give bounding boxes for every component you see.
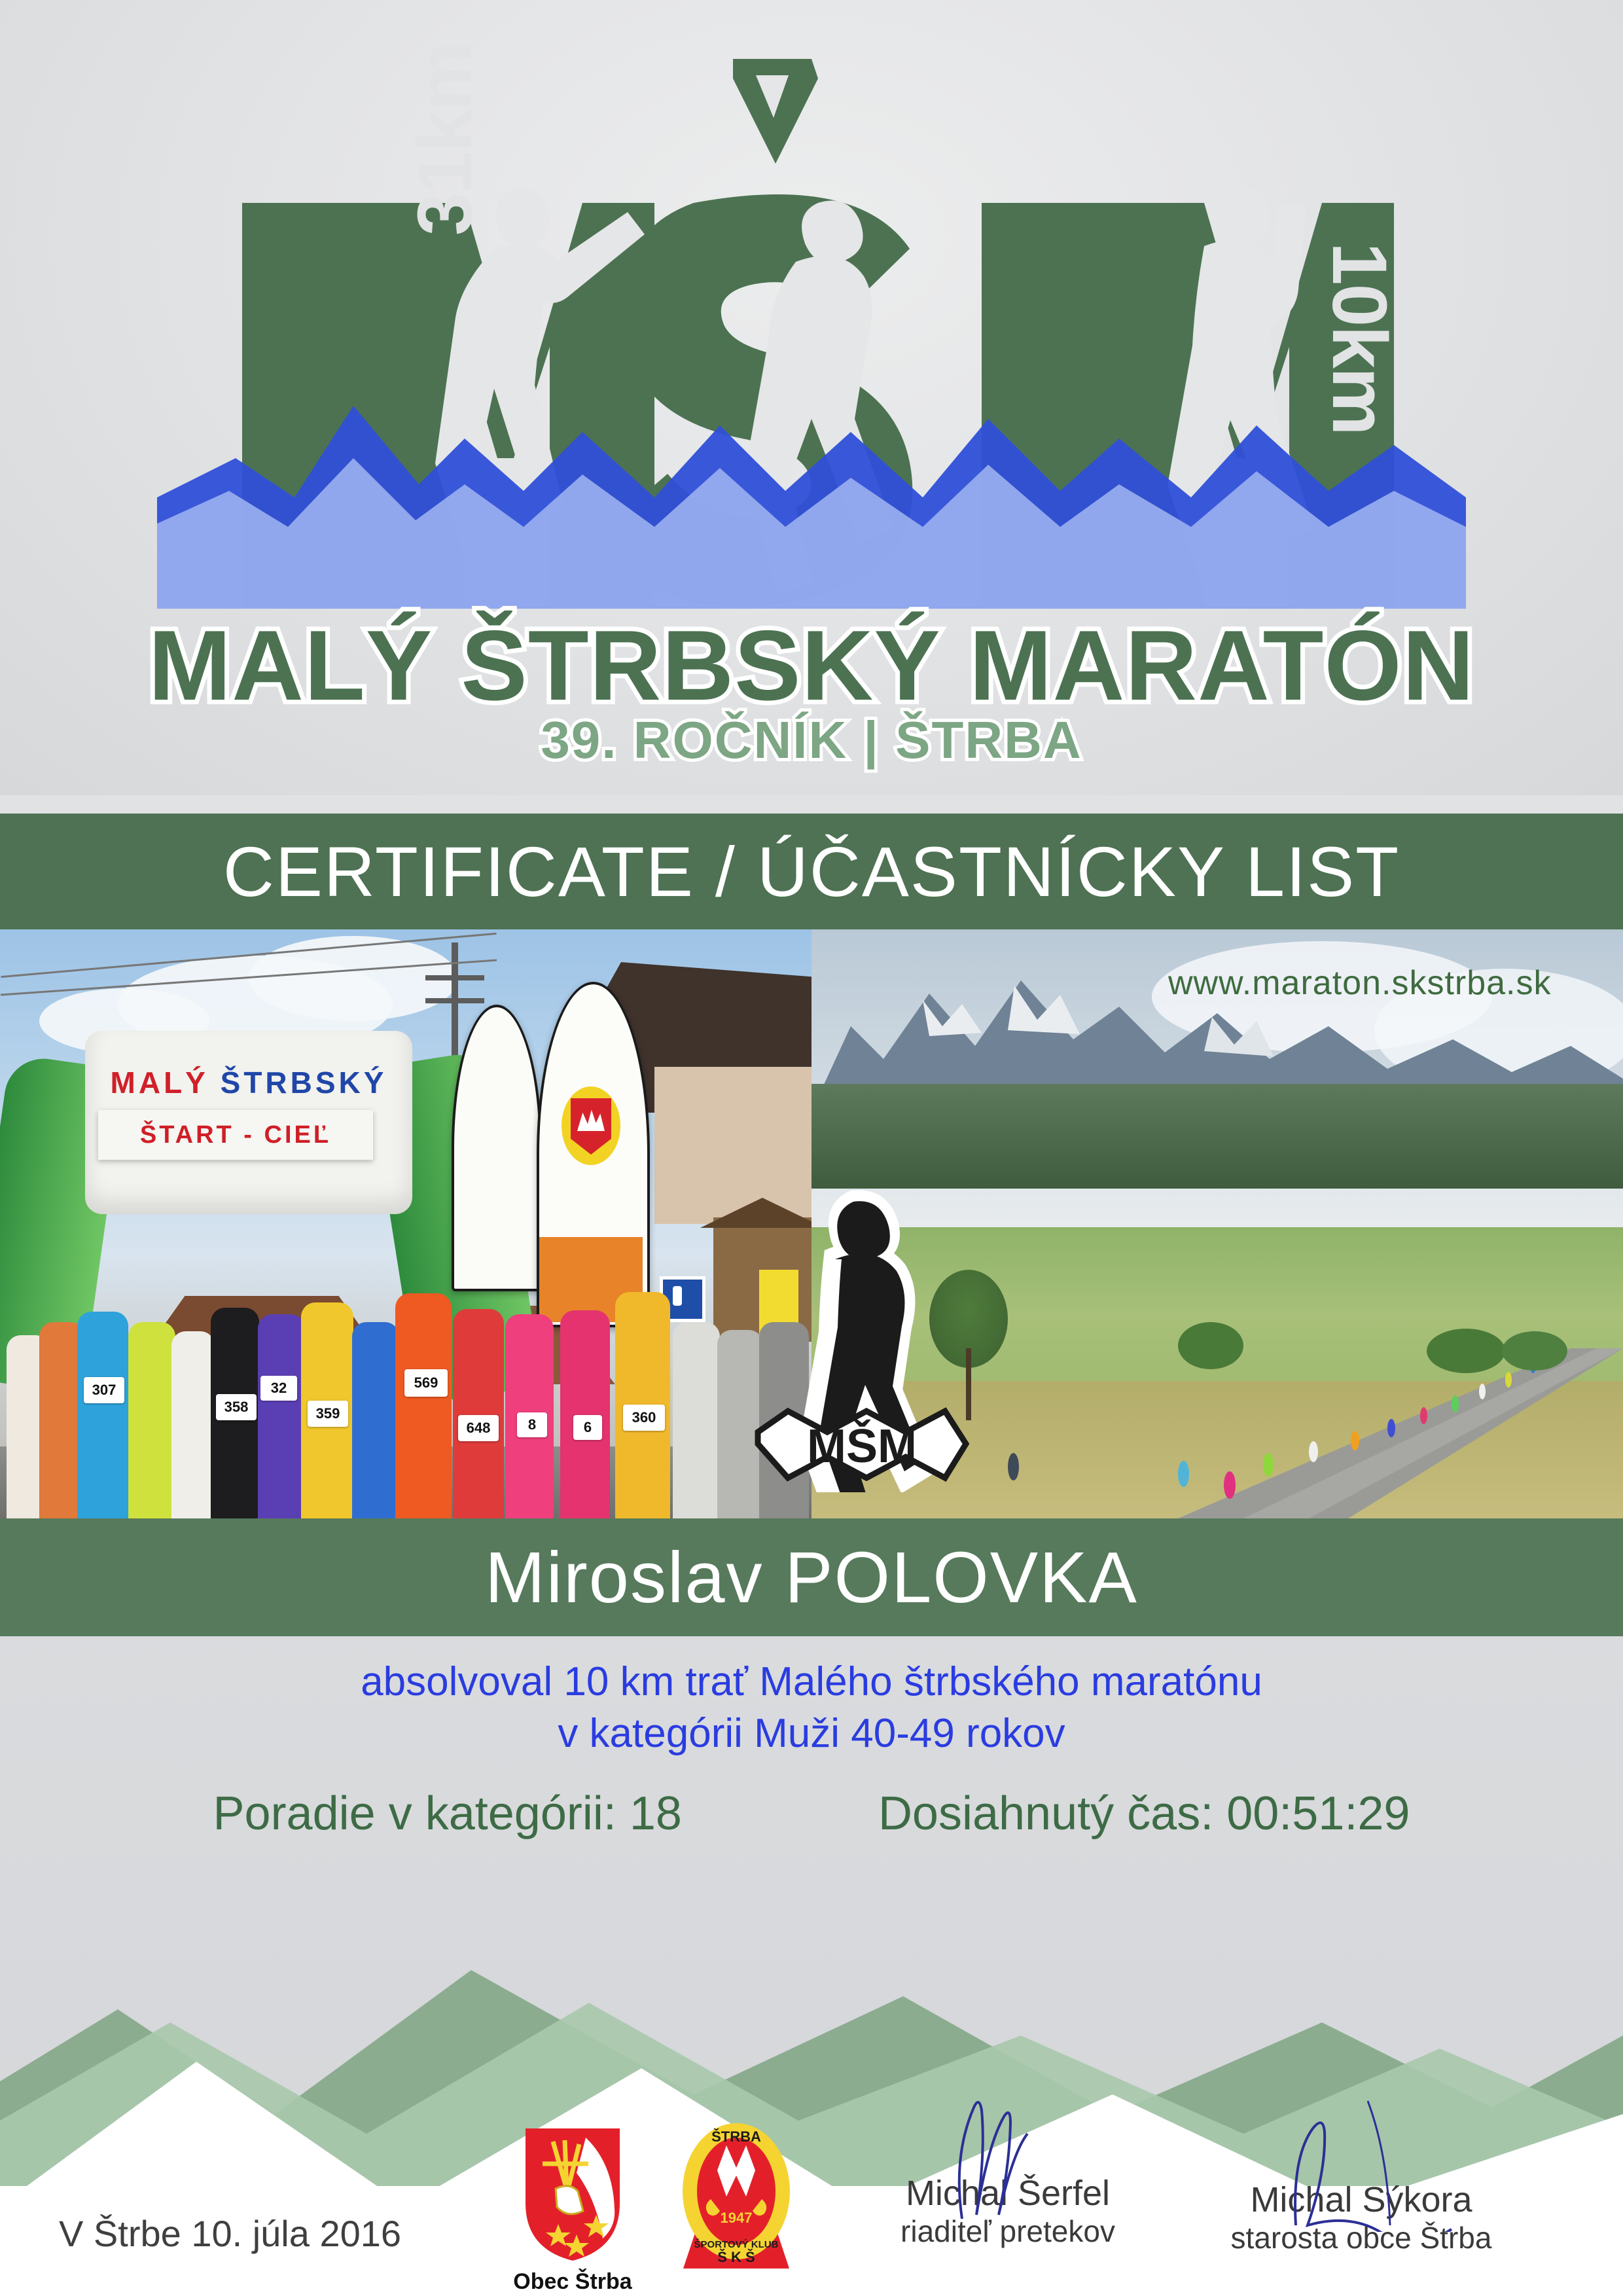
certificate-band: CERTIFICATE / ÚČASTNÍCKY LIST xyxy=(0,814,1623,929)
emblem-text: MŠM xyxy=(807,1420,917,1473)
signature-name: Michal Sýkora xyxy=(1191,2179,1531,2220)
sks-bottom-text: Š K Š xyxy=(717,2249,755,2265)
signature-role: riaditeľ pretekov xyxy=(838,2214,1178,2249)
footer: V Štrbe 10. júla 2016 Obec Št xyxy=(0,2062,1623,2296)
sks-top-text: ŠTRBA xyxy=(711,2128,761,2145)
crest-sks: ŠTRBA 1947 Š K Š ŠPORTOVÝ KLUB xyxy=(661,2119,811,2273)
signature-name: Michal Šerfel xyxy=(838,2173,1178,2214)
bib-number: 648 xyxy=(458,1415,499,1441)
sks-year: 1947 xyxy=(721,2210,753,2226)
bib-number: 358 xyxy=(216,1394,257,1420)
description-line-2: v kategórii Muži 40-49 rokov xyxy=(0,1708,1623,1759)
certificate-page: 31km 10km MALÝ ŠTRBSKÝ MARATÓN 39. ROČNÍ… xyxy=(0,0,1623,2296)
sks-arc-text: ŠPORTOVÝ KLUB xyxy=(694,2238,779,2250)
emblem-banner: MŠM xyxy=(758,1411,966,1478)
finish-time: Dosiahnutý čas: 00:51:29 xyxy=(878,1787,1410,1840)
sks-club-logo: ŠTRBA 1947 Š K Š ŠPORTOVÝ KLUB xyxy=(674,2119,798,2270)
bib-number: 569 xyxy=(404,1369,448,1397)
bib-number: 360 xyxy=(623,1405,665,1431)
start-finish-banner: ŠTART - CIEĽ xyxy=(98,1110,373,1160)
crest-obec-strba: Obec Štrba xyxy=(497,2126,648,2295)
arch-line-1: MALÝ ŠTRBSKÝ xyxy=(85,1065,412,1100)
bib-number: 8 xyxy=(517,1412,547,1437)
website-url: www.maraton.skstrba.sk xyxy=(1168,963,1552,1003)
participant-name: Miroslav POLOVKA xyxy=(485,1536,1138,1619)
msm-logo-svg xyxy=(157,39,1466,609)
signature-block-mayor: Michal Sýkora starosta obce Štrba xyxy=(1191,2179,1531,2255)
msm-runner-emblem: MŠM xyxy=(754,1185,970,1492)
distance-left-label: 31km xyxy=(401,43,490,236)
event-subtitle: 39. ROČNÍK | ŠTRBA xyxy=(0,710,1623,770)
category-rank: Poradie v kategórii: 18 xyxy=(213,1787,682,1840)
issue-date: V Štrbe 10. júla 2016 xyxy=(59,2212,401,2255)
results-row: Poradie v kategórii: 18 Dosiahnutý čas: … xyxy=(0,1787,1623,1840)
description-line-1: absolvoval 10 km trať Malého štrbského m… xyxy=(0,1656,1623,1708)
distance-right-label: 10km xyxy=(1315,242,1404,435)
start-finish-text: ŠTART - CIEĽ xyxy=(140,1121,331,1149)
bib-number: 32 xyxy=(260,1376,297,1401)
logo-header: 31km 10km MALÝ ŠTRBSKÝ MARATÓN 39. ROČNÍ… xyxy=(0,0,1623,795)
bib-number: 6 xyxy=(573,1415,602,1440)
bib-number: 307 xyxy=(84,1377,124,1403)
signature-role: starosta obce Štrba xyxy=(1191,2220,1531,2255)
description-block: absolvoval 10 km trať Malého štrbského m… xyxy=(0,1656,1623,1760)
participant-name-band: Miroslav POLOVKA xyxy=(0,1518,1623,1636)
crest-obec-caption: Obec Štrba xyxy=(497,2269,648,2295)
bib-number: 359 xyxy=(308,1401,348,1427)
certificate-title: CERTIFICATE / ÚČASTNÍCKY LIST xyxy=(223,831,1400,912)
signature-block-director: Michal Šerfel riaditeľ pretekov xyxy=(838,2173,1178,2249)
obec-strba-shield xyxy=(520,2126,625,2263)
photo-start-line: MALÝ ŠTRBSKÝ MARATÓN ŠTART - CIEĽ xyxy=(0,929,811,1518)
runner-crowd: 307 358 32 359 569 648 8 6 36 xyxy=(0,1244,811,1518)
event-title: MALÝ ŠTRBSKÝ MARATÓN xyxy=(0,609,1623,723)
msm-logo: 31km 10km xyxy=(157,39,1466,609)
